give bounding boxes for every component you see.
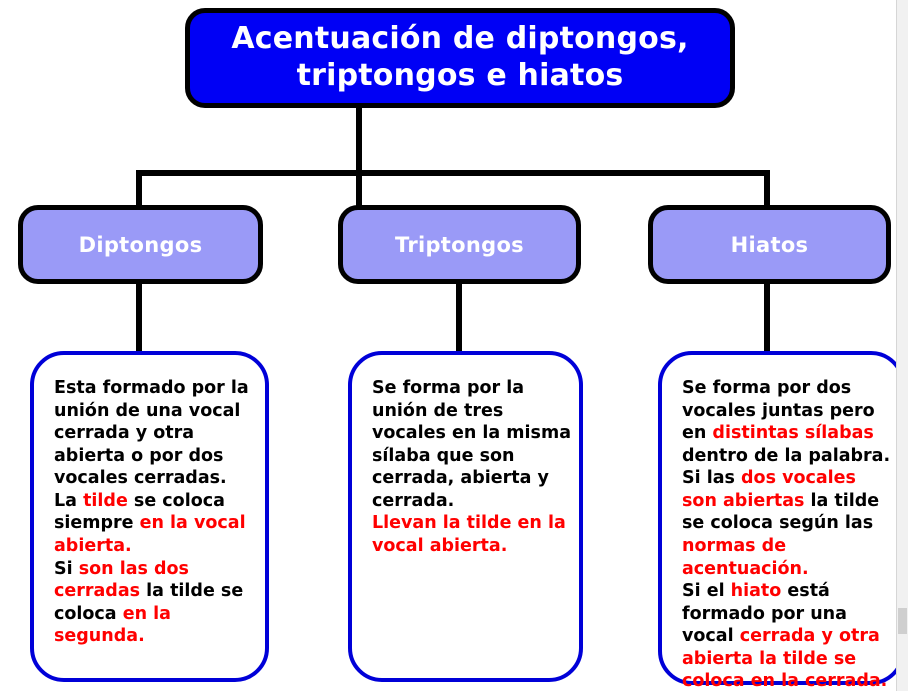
category-label-diptongos: Diptongos (79, 233, 203, 257)
connector-bus-to-triptongos (356, 170, 362, 210)
description-node-triptongos: Se forma por la unión de tres vocales en… (348, 351, 583, 682)
scrollbar-thumb[interactable] (898, 608, 907, 634)
description-text-triptongos: Se forma por la unión de tres vocales en… (372, 377, 573, 558)
connector-root-vertical (356, 106, 362, 176)
category-node-hiatos: Hiatos (648, 205, 891, 284)
category-node-diptongos: Diptongos (18, 205, 263, 284)
description-node-hiatos: Se forma por dos vocales juntas pero en … (658, 351, 905, 685)
connector-bus-to-diptongos (136, 170, 142, 210)
connector-triptongos-to-description (456, 280, 462, 356)
description-text-hiatos: Se forma por dos vocales juntas pero en … (682, 377, 895, 691)
root-node-label: Acentuación de diptongos, triptongos e h… (190, 21, 730, 94)
connector-bus-to-hiatos (764, 170, 770, 210)
connector-diptongos-to-description (136, 280, 142, 356)
category-label-hiatos: Hiatos (731, 233, 809, 257)
category-node-triptongos: Triptongos (338, 205, 581, 284)
scrollbar-track[interactable] (896, 0, 908, 691)
category-label-triptongos: Triptongos (395, 233, 524, 257)
connector-hiatos-to-description (764, 280, 770, 356)
description-text-diptongos: Esta formado por la unión de una vocal c… (54, 377, 259, 648)
connector-horizontal-bus (136, 170, 770, 176)
description-node-diptongos: Esta formado por la unión de una vocal c… (30, 351, 269, 682)
root-node-acentuacion: Acentuación de diptongos, triptongos e h… (185, 8, 735, 108)
diagram-canvas: Acentuación de diptongos, triptongos e h… (0, 0, 908, 691)
